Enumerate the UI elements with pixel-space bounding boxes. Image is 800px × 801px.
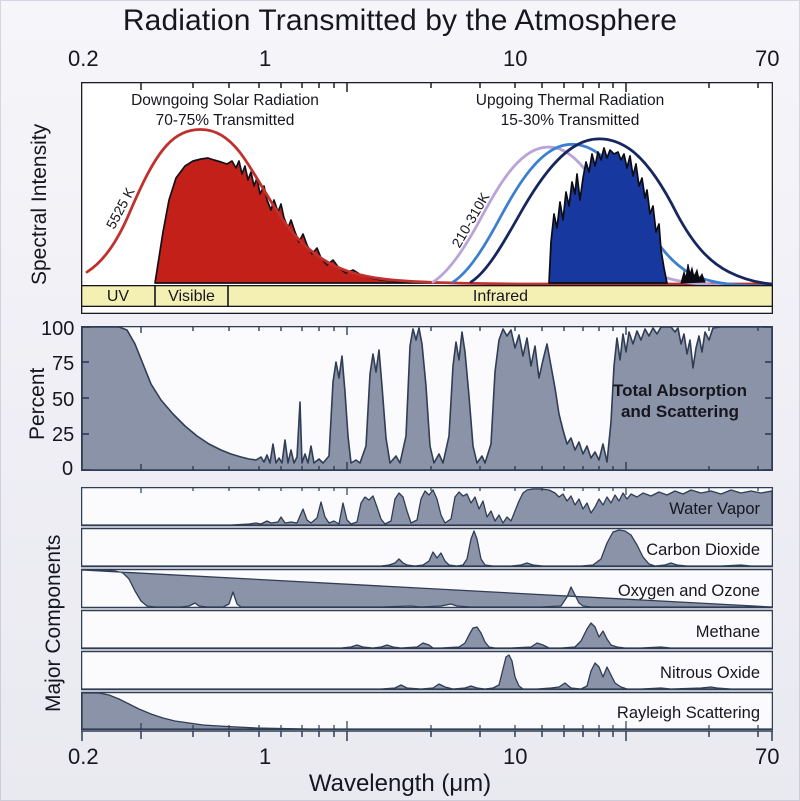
x-tick-bottom-1: 1 xyxy=(259,744,271,770)
component-label-rayleigh-scattering: Rayleigh Scattering xyxy=(460,704,760,723)
y-tick-percent-75: 75 xyxy=(52,353,74,376)
x-tick-top-1: 1 xyxy=(259,46,271,72)
bottom-axis-svg xyxy=(81,730,773,744)
solar-annotation-subtitle: 70-75% Transmitted xyxy=(95,112,355,131)
bottom-axis xyxy=(81,730,773,744)
component-label-nitrous-oxide: Nitrous Oxide xyxy=(460,664,760,683)
components-plot xyxy=(81,487,773,730)
x-tick-bottom-2: 10 xyxy=(503,744,527,770)
band-label-uv: UV xyxy=(81,288,155,306)
axis-label-wavelength: Wavelength (μm) xyxy=(0,770,800,798)
y-tick-percent-0: 0 xyxy=(62,458,73,481)
thermal-annotation-title: Upgoing Thermal Radiation xyxy=(440,92,700,111)
absorption-annotation-line2: and Scattering xyxy=(590,401,770,422)
absorption-annotation-line1: Total Absorption xyxy=(590,380,770,401)
y-tick-percent-100: 100 xyxy=(41,318,74,341)
solar-annotation-title: Downgoing Solar Radiation xyxy=(95,92,355,111)
y-tick-percent-25: 25 xyxy=(52,424,74,447)
axis-ticks xyxy=(82,731,772,741)
x-tick-top-0: 0.2 xyxy=(68,46,99,72)
component-label-water-vapor: Water Vapor xyxy=(460,500,760,519)
y-tick-percent-50: 50 xyxy=(52,389,74,412)
axis-label-percent: Percent xyxy=(26,368,50,440)
figure-root: Radiation Transmitted by the Atmosphere … xyxy=(0,0,800,801)
x-tick-bottom-3: 70 xyxy=(755,744,779,770)
panel-major-components xyxy=(81,487,773,730)
axis-label-major-components: Major Components xyxy=(42,535,66,712)
x-tick-top-2: 10 xyxy=(503,46,527,72)
component-label-carbon-dioxide: Carbon Dioxide xyxy=(460,541,760,560)
component-label-oxygen-and-ozone: Oxygen and Ozone xyxy=(460,582,760,601)
axis-label-spectral-intensity: Spectral Intensity xyxy=(28,124,52,285)
component-label-methane: Methane xyxy=(460,623,760,642)
band-label-visible: Visible xyxy=(155,288,228,306)
figure-title: Radiation Transmitted by the Atmosphere xyxy=(0,4,800,38)
band-label-infrared: Infrared xyxy=(228,288,773,306)
x-tick-bottom-0: 0.2 xyxy=(68,744,99,770)
thermal-annotation-subtitle: 15-30% Transmitted xyxy=(440,112,700,131)
x-tick-top-3: 70 xyxy=(755,46,779,72)
